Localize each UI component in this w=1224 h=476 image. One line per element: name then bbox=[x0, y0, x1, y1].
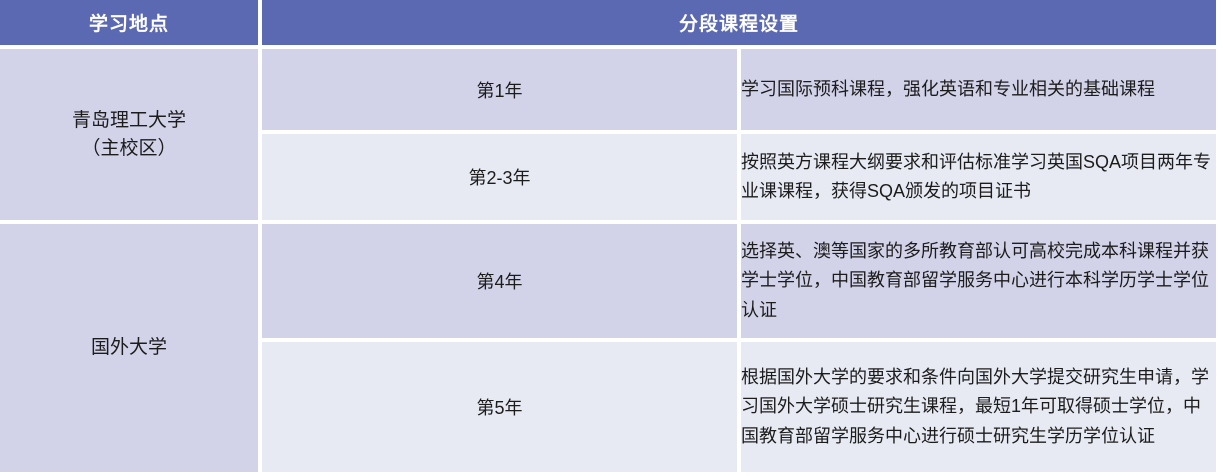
table-row: 国外大学 第4年 选择英、澳等国家的多所教育部认可高校完成本科课程并获学士学位，… bbox=[0, 224, 1216, 338]
table-body: 青岛理工大学 （主校区） 第1年 学习国际预科课程，强化英语和专业相关的基础课程… bbox=[0, 49, 1216, 472]
study-place-line-2: （主校区） bbox=[0, 135, 258, 163]
course-structure-table-container: 学习地点 分段课程设置 青岛理工大学 （主校区） 第1年 学习国际预科课程，强化… bbox=[0, 0, 1224, 470]
cell-study-place-group-2: 国外大学 bbox=[0, 224, 258, 472]
cell-year-2: 第2-3年 bbox=[262, 134, 737, 220]
cell-study-place-group-1: 青岛理工大学 （主校区） bbox=[0, 49, 258, 220]
cell-description-4: 根据国外大学的要求和条件向国外大学提交研究生申请，学习国外大学硕士研究生课程，最… bbox=[741, 342, 1216, 472]
study-place-line-1: 青岛理工大学 bbox=[0, 107, 258, 135]
course-structure-table: 学习地点 分段课程设置 青岛理工大学 （主校区） 第1年 学习国际预科课程，强化… bbox=[0, 0, 1220, 476]
cell-year-4: 第5年 bbox=[262, 342, 737, 472]
study-place-line-1: 国外大学 bbox=[0, 334, 258, 362]
column-header-study-place: 学习地点 bbox=[0, 0, 258, 45]
cell-year-1: 第1年 bbox=[262, 49, 737, 130]
cell-description-3: 选择英、澳等国家的多所教育部认可高校完成本科课程并获学士学位，中国教育部留学服务… bbox=[741, 224, 1216, 338]
table-header-row: 学习地点 分段课程设置 bbox=[0, 0, 1216, 45]
table-row: 青岛理工大学 （主校区） 第1年 学习国际预科课程，强化英语和专业相关的基础课程 bbox=[0, 49, 1216, 130]
cell-description-2: 按照英方课程大纲要求和评估标准学习英国SQA项目两年专业课课程，获得SQA颁发的… bbox=[741, 134, 1216, 220]
cell-year-3: 第4年 bbox=[262, 224, 737, 338]
table-header: 学习地点 分段课程设置 bbox=[0, 0, 1216, 45]
column-header-program-structure: 分段课程设置 bbox=[262, 0, 1216, 45]
cell-description-1: 学习国际预科课程，强化英语和专业相关的基础课程 bbox=[741, 49, 1216, 130]
